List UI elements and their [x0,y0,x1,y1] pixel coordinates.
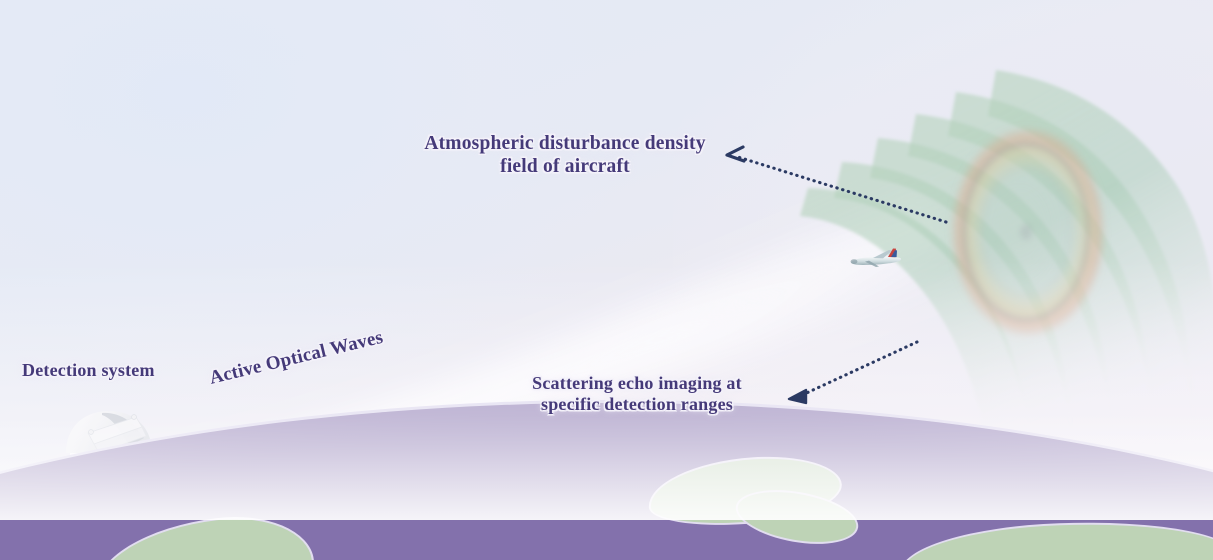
sky-wash-upper-left [0,0,640,400]
diagram-canvas: Atmospheric disturbance density field of… [0,0,1213,560]
label-scattering-echo: Scattering echo imaging at specific dete… [502,373,772,415]
scattering-echo-ring [940,120,1120,350]
arrow-to-atmospheric-label [727,147,946,222]
airliner [845,244,907,274]
label-detection-system: Detection system [22,360,202,381]
label-atmospheric-disturbance: Atmospheric disturbance density field of… [400,132,730,178]
